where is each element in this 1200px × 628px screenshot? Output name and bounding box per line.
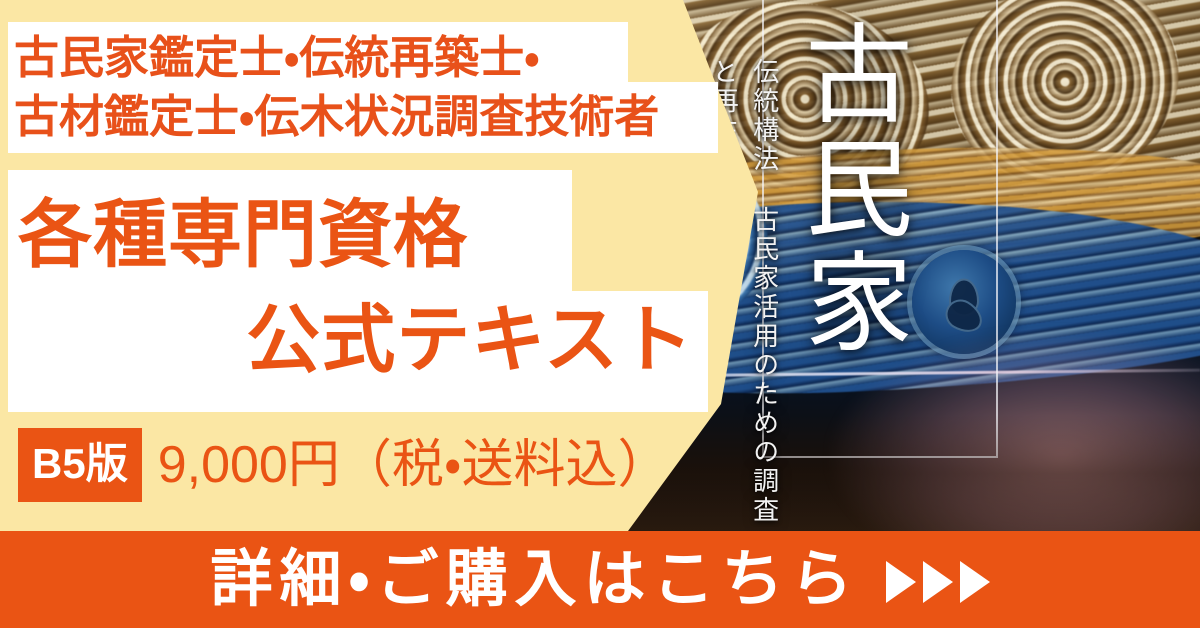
qualifications-headline: 古民家鑑定士・伝統再築士・ 古材鑑定士・伝木状況調査技術者 xyxy=(14,28,720,147)
chevron-right-icon xyxy=(923,561,953,603)
price-amount: 9,000円（税・送料込） xyxy=(158,439,670,491)
chevron-right-icon xyxy=(960,561,990,603)
main-title-line-1: 各種専門資格 xyxy=(18,182,708,287)
size-badge: B5版 xyxy=(18,428,142,502)
main-title-line-2: 公式テキスト xyxy=(18,287,708,392)
chevron-right-icon xyxy=(886,561,916,603)
headline-line-1: 古民家鑑定士・伝統再築士・ xyxy=(14,28,720,87)
promo-banner: 古民家 伝統構法 古民家活用のための調査と再生の 古民家鑑定士・伝統再築士・ 古… xyxy=(0,0,1200,628)
cta-bar[interactable]: 詳細・ご購入はこちら xyxy=(0,531,1200,628)
book-cover-title: 古民家 xyxy=(794,18,912,360)
price-row: B5版 9,000円（税・送料込） xyxy=(18,428,670,502)
headline-line-2: 古材鑑定士・伝木状況調査技術者 xyxy=(14,87,720,146)
cta-arrows xyxy=(886,561,990,603)
page-title: 各種専門資格 公式テキスト xyxy=(18,182,708,392)
cta-label: 詳細・ご購入はこちら xyxy=(210,549,859,611)
